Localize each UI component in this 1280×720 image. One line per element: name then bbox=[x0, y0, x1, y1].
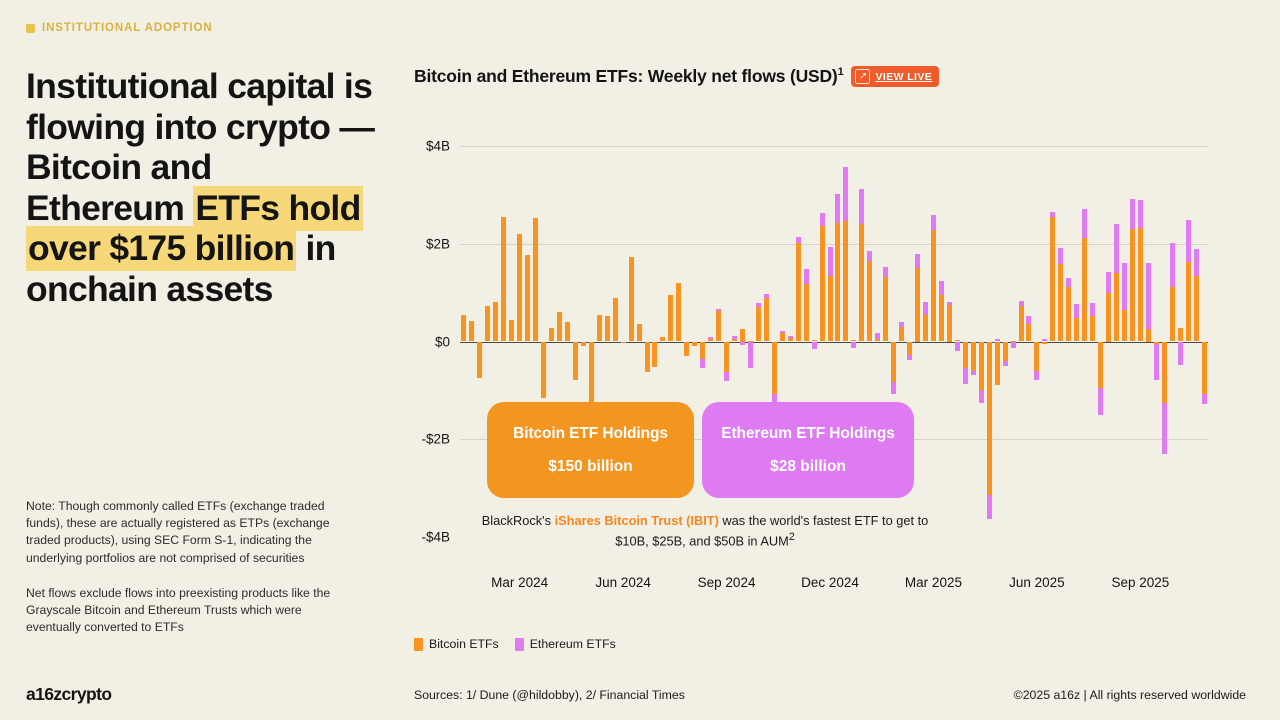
notes-block: Note: Though commonly called ETFs (excha… bbox=[26, 498, 336, 636]
x-axis-tick-label: Jun 2025 bbox=[1009, 575, 1065, 590]
bar-segment-bitcoin bbox=[676, 283, 681, 342]
chart-bar bbox=[1082, 146, 1087, 537]
bar-segment-ethereum bbox=[955, 342, 960, 352]
chart-bar bbox=[947, 146, 952, 537]
chart-bar bbox=[1106, 146, 1111, 537]
bar-segment-bitcoin bbox=[501, 217, 506, 342]
chart-bar bbox=[1114, 146, 1119, 537]
view-live-button[interactable]: ↗ VIEW LIVE bbox=[851, 66, 939, 87]
legend-item-bitcoin[interactable]: Bitcoin ETFs bbox=[414, 637, 499, 651]
bar-segment-ethereum bbox=[796, 237, 801, 243]
bar-segment-bitcoin bbox=[828, 276, 833, 342]
y-axis-tick-label: -$2B bbox=[394, 432, 450, 447]
bar-segment-bitcoin bbox=[947, 305, 952, 342]
bar-segment-ethereum bbox=[1194, 249, 1199, 276]
view-live-label: VIEW LIVE bbox=[875, 71, 932, 83]
bar-segment-bitcoin bbox=[1130, 229, 1135, 341]
bar-segment-bitcoin bbox=[1138, 228, 1143, 341]
bar-segment-bitcoin bbox=[788, 338, 793, 342]
bar-segment-ethereum bbox=[851, 342, 856, 349]
bar-segment-bitcoin bbox=[963, 342, 968, 369]
slide-root: INSTITUTIONAL ADOPTION Institutional cap… bbox=[0, 0, 1280, 720]
bar-segment-bitcoin bbox=[549, 328, 554, 342]
bar-segment-bitcoin bbox=[517, 234, 522, 342]
chart-bar bbox=[1050, 146, 1055, 537]
chart-bar bbox=[1202, 146, 1207, 537]
chart-bar bbox=[995, 146, 1000, 537]
left-column: INSTITUTIONAL ADOPTION Institutional cap… bbox=[26, 22, 386, 309]
chart-bar bbox=[971, 146, 976, 537]
chart-bar bbox=[1066, 146, 1071, 537]
x-axis-tick-label: Mar 2024 bbox=[491, 575, 548, 590]
chart-bar bbox=[1130, 146, 1135, 537]
bar-segment-bitcoin bbox=[493, 302, 498, 341]
chart-bar bbox=[1019, 146, 1024, 537]
chart-legend: Bitcoin ETFs Ethereum ETFs bbox=[414, 637, 616, 651]
bar-segment-ethereum bbox=[788, 336, 793, 338]
bar-segment-bitcoin bbox=[557, 312, 562, 341]
bar-segment-bitcoin bbox=[875, 339, 880, 341]
bar-segment-ethereum bbox=[1050, 212, 1055, 217]
footer-sources: Sources: 1/ Dune (@hildobby), 2/ Financi… bbox=[414, 688, 685, 702]
external-link-arrow-icon: ↗ bbox=[855, 69, 870, 84]
bar-segment-bitcoin bbox=[804, 284, 809, 342]
bar-segment-bitcoin bbox=[740, 329, 745, 341]
bar-segment-ethereum bbox=[708, 337, 713, 339]
bar-segment-ethereum bbox=[1138, 200, 1143, 228]
bar-segment-ethereum bbox=[1034, 371, 1039, 380]
chart-bar bbox=[1186, 146, 1191, 537]
bar-segment-bitcoin bbox=[692, 342, 697, 347]
chart-title-footnote: 1 bbox=[838, 66, 844, 78]
chart-bar bbox=[1026, 146, 1031, 537]
bar-segment-bitcoin bbox=[931, 230, 936, 341]
legend-swatch-icon bbox=[414, 638, 423, 651]
chart-bar bbox=[955, 146, 960, 537]
bar-segment-ethereum bbox=[1042, 339, 1047, 342]
annotation-part1: BlackRock's bbox=[482, 513, 555, 528]
bar-segment-bitcoin bbox=[629, 257, 634, 342]
bar-segment-bitcoin bbox=[565, 322, 570, 342]
bar-segment-ethereum bbox=[1019, 301, 1024, 306]
chart-bar bbox=[469, 146, 474, 537]
bar-segment-ethereum bbox=[939, 281, 944, 295]
bar-segment-bitcoin bbox=[716, 311, 721, 341]
bar-segment-ethereum bbox=[804, 269, 809, 284]
chart-bar bbox=[987, 146, 992, 537]
chart-bar bbox=[1154, 146, 1159, 537]
bar-segment-bitcoin bbox=[1114, 273, 1119, 341]
x-axis-tick-label: Mar 2025 bbox=[905, 575, 962, 590]
chart-annotation: BlackRock's iShares Bitcoin Trust (IBIT)… bbox=[480, 512, 930, 549]
chart-title-text: Bitcoin and Ethereum ETFs: Weekly net fl… bbox=[414, 66, 838, 86]
bar-segment-ethereum bbox=[780, 331, 785, 332]
bar-segment-ethereum bbox=[923, 302, 928, 314]
bar-segment-bitcoin bbox=[668, 295, 673, 341]
chart-bar bbox=[1194, 146, 1199, 537]
bar-segment-ethereum bbox=[1026, 316, 1031, 325]
bar-segment-ethereum bbox=[1162, 403, 1167, 454]
callout-card-ethereum: Ethereum ETF Holdings $28 billion bbox=[702, 402, 914, 498]
bar-segment-bitcoin bbox=[1058, 264, 1063, 341]
y-axis-tick-label: $2B bbox=[394, 236, 450, 251]
bar-segment-bitcoin bbox=[843, 221, 848, 342]
bar-segment-bitcoin bbox=[724, 342, 729, 372]
bar-segment-ethereum bbox=[883, 267, 888, 277]
chart-bar bbox=[461, 146, 466, 537]
bar-segment-ethereum bbox=[740, 342, 745, 346]
bar-segment-ethereum bbox=[1058, 248, 1063, 265]
bar-segment-bitcoin bbox=[883, 277, 888, 342]
bar-segment-ethereum bbox=[1130, 199, 1135, 229]
bar-segment-ethereum bbox=[915, 254, 920, 269]
bar-segment-bitcoin bbox=[613, 298, 618, 342]
eyebrow: INSTITUTIONAL ADOPTION bbox=[26, 22, 386, 34]
bar-segment-bitcoin bbox=[1106, 293, 1111, 342]
bar-segment-bitcoin bbox=[1146, 329, 1151, 341]
bar-segment-bitcoin bbox=[637, 324, 642, 341]
bar-segment-bitcoin bbox=[1050, 217, 1055, 342]
bar-segment-bitcoin bbox=[1019, 306, 1024, 342]
chart-bar bbox=[1170, 146, 1175, 537]
bar-segment-bitcoin bbox=[1178, 328, 1183, 342]
bar-segment-bitcoin bbox=[485, 306, 490, 341]
bar-segment-ethereum bbox=[947, 302, 952, 304]
x-axis-tick-label: Sep 2025 bbox=[1111, 575, 1169, 590]
bar-segment-bitcoin bbox=[477, 342, 482, 379]
callout-value: $28 billion bbox=[770, 458, 846, 476]
eyebrow-label: INSTITUTIONAL ADOPTION bbox=[42, 22, 213, 34]
bar-segment-bitcoin bbox=[987, 342, 992, 496]
y-axis-tick-label: $0 bbox=[394, 334, 450, 349]
bar-segment-ethereum bbox=[724, 372, 729, 381]
chart-bar bbox=[1074, 146, 1079, 537]
bar-segment-ethereum bbox=[732, 336, 737, 339]
bar-segment-bitcoin bbox=[899, 327, 904, 342]
bar-segment-bitcoin bbox=[660, 337, 665, 342]
bar-segment-bitcoin bbox=[1194, 276, 1199, 342]
chart-bar bbox=[1003, 146, 1008, 537]
chart-bar bbox=[1042, 146, 1047, 537]
bar-segment-ethereum bbox=[891, 382, 896, 395]
chart-bar bbox=[1090, 146, 1095, 537]
bar-segment-ethereum bbox=[1106, 272, 1111, 293]
page-title: Institutional capital is flowing into cr… bbox=[26, 66, 376, 309]
bar-segment-ethereum bbox=[971, 371, 976, 375]
callout-title: Bitcoin ETF Holdings bbox=[513, 425, 668, 443]
y-axis-tick-label: -$4B bbox=[394, 530, 450, 545]
y-axis-tick-label: $4B bbox=[394, 139, 450, 154]
legend-label: Ethereum ETFs bbox=[530, 637, 616, 651]
bar-segment-ethereum bbox=[764, 294, 769, 299]
bar-segment-bitcoin bbox=[1186, 262, 1191, 342]
bar-segment-bitcoin bbox=[1034, 342, 1039, 371]
bar-segment-ethereum bbox=[1074, 304, 1079, 318]
bar-segment-bitcoin bbox=[1074, 318, 1079, 341]
bar-segment-ethereum bbox=[700, 359, 705, 368]
x-axis-tick-label: Dec 2024 bbox=[801, 575, 859, 590]
x-axis-tick-label: Sep 2024 bbox=[698, 575, 756, 590]
bar-segment-bitcoin bbox=[1162, 342, 1167, 403]
bar-segment-ethereum bbox=[843, 167, 848, 221]
bar-segment-bitcoin bbox=[820, 226, 825, 342]
legend-item-ethereum[interactable]: Ethereum ETFs bbox=[515, 637, 616, 651]
bar-segment-bitcoin bbox=[1098, 342, 1103, 388]
annotation-footnote: 2 bbox=[789, 531, 795, 543]
bar-segment-ethereum bbox=[1098, 388, 1103, 415]
bar-segment-bitcoin bbox=[684, 342, 689, 357]
bar-segment-bitcoin bbox=[1003, 342, 1008, 362]
note-item: Note: Though commonly called ETFs (excha… bbox=[26, 498, 336, 567]
chart-bar bbox=[1122, 146, 1127, 537]
bar-segment-bitcoin bbox=[1090, 316, 1095, 341]
bar-segment-ethereum bbox=[995, 339, 1000, 341]
annotation-accent: iShares Bitcoin Trust (IBIT) bbox=[555, 513, 719, 528]
note-item: Net flows exclude flows into preexisting… bbox=[26, 585, 336, 637]
bar-segment-ethereum bbox=[1003, 361, 1008, 366]
bar-segment-bitcoin bbox=[461, 315, 466, 342]
bar-segment-bitcoin bbox=[907, 342, 912, 356]
chart-bar bbox=[1058, 146, 1063, 537]
bar-segment-bitcoin bbox=[509, 320, 514, 342]
bar-segment-bitcoin bbox=[469, 321, 474, 342]
bar-segment-bitcoin bbox=[923, 315, 928, 342]
bar-segment-bitcoin bbox=[573, 342, 578, 380]
bar-segment-ethereum bbox=[899, 322, 904, 327]
chart-bar bbox=[477, 146, 482, 537]
bar-segment-ethereum bbox=[812, 342, 817, 350]
x-axis-tick-label: Jun 2024 bbox=[595, 575, 651, 590]
bar-segment-bitcoin bbox=[859, 224, 864, 341]
chart-header: Bitcoin and Ethereum ETFs: Weekly net fl… bbox=[414, 66, 939, 87]
bar-segment-ethereum bbox=[867, 251, 872, 261]
bar-segment-bitcoin bbox=[772, 342, 777, 394]
bar-segment-bitcoin bbox=[995, 342, 1000, 386]
bar-segment-bitcoin bbox=[835, 223, 840, 341]
bar-segment-ethereum bbox=[1066, 278, 1071, 287]
bar-segment-ethereum bbox=[1170, 243, 1175, 287]
bar-segment-ethereum bbox=[907, 355, 912, 360]
bar-segment-bitcoin bbox=[1122, 310, 1127, 342]
bar-segment-bitcoin bbox=[708, 339, 713, 341]
bar-segment-ethereum bbox=[963, 368, 968, 384]
bar-segment-ethereum bbox=[1178, 342, 1183, 365]
bar-segment-ethereum bbox=[1122, 263, 1127, 309]
bar-segment-ethereum bbox=[716, 309, 721, 311]
bar-segment-bitcoin bbox=[525, 255, 530, 342]
callout-title: Ethereum ETF Holdings bbox=[721, 425, 895, 443]
bar-segment-bitcoin bbox=[939, 295, 944, 342]
chart-bar bbox=[1178, 146, 1183, 537]
bar-segment-bitcoin bbox=[971, 342, 976, 371]
chart-bar bbox=[1162, 146, 1167, 537]
bar-segment-ethereum bbox=[1082, 209, 1087, 238]
bar-segment-ethereum bbox=[1202, 394, 1207, 404]
bar-segment-ethereum bbox=[859, 189, 864, 224]
bar-segment-bitcoin bbox=[1082, 238, 1087, 342]
bar-segment-bitcoin bbox=[533, 218, 538, 341]
bar-segment-bitcoin bbox=[700, 342, 705, 360]
bar-segment-bitcoin bbox=[541, 342, 546, 398]
bar-segment-bitcoin bbox=[1170, 287, 1175, 342]
square-marker-icon bbox=[26, 24, 35, 33]
bar-segment-bitcoin bbox=[652, 342, 657, 367]
bar-segment-ethereum bbox=[828, 247, 833, 275]
bar-segment-bitcoin bbox=[764, 298, 769, 341]
bar-segment-ethereum bbox=[1011, 342, 1016, 349]
bar-segment-bitcoin bbox=[597, 315, 602, 342]
bar-segment-bitcoin bbox=[621, 342, 626, 343]
bar-segment-bitcoin bbox=[979, 342, 984, 391]
legend-label: Bitcoin ETFs bbox=[429, 637, 499, 651]
bar-segment-bitcoin bbox=[581, 342, 586, 347]
bar-segment-bitcoin bbox=[796, 243, 801, 342]
bar-segment-ethereum bbox=[931, 215, 936, 230]
bar-segment-ethereum bbox=[748, 342, 753, 369]
chart-bar bbox=[931, 146, 936, 537]
chart-bar bbox=[979, 146, 984, 537]
chart-bar bbox=[923, 146, 928, 537]
chart-bar bbox=[1146, 146, 1151, 537]
a16zcrypto-logo: a16zcrypto bbox=[26, 684, 111, 705]
footer-copyright: ©2025 a16z | All rights reserved worldwi… bbox=[1014, 688, 1246, 702]
callout-card-bitcoin: Bitcoin ETF Holdings $150 billion bbox=[487, 402, 694, 498]
chart-bar bbox=[939, 146, 944, 537]
bar-segment-bitcoin bbox=[756, 307, 761, 341]
bar-segment-ethereum bbox=[1090, 303, 1095, 316]
bar-segment-bitcoin bbox=[645, 342, 650, 372]
bar-segment-bitcoin bbox=[732, 339, 737, 341]
callout-value: $150 billion bbox=[548, 458, 632, 476]
bar-segment-bitcoin bbox=[891, 342, 896, 382]
bar-segment-ethereum bbox=[756, 303, 761, 307]
bar-segment-ethereum bbox=[1146, 263, 1151, 329]
bar-segment-ethereum bbox=[1186, 220, 1191, 262]
bar-segment-bitcoin bbox=[1066, 287, 1071, 342]
bar-segment-bitcoin bbox=[867, 261, 872, 342]
bar-segment-bitcoin bbox=[1202, 342, 1207, 395]
legend-swatch-icon bbox=[515, 638, 524, 651]
chart-bar bbox=[1098, 146, 1103, 537]
bar-segment-bitcoin bbox=[780, 333, 785, 342]
chart-bar bbox=[1034, 146, 1039, 537]
bar-segment-bitcoin bbox=[1042, 342, 1047, 344]
bar-segment-ethereum bbox=[820, 213, 825, 226]
chart-bar bbox=[1138, 146, 1143, 537]
bar-segment-ethereum bbox=[875, 333, 880, 339]
bar-segment-bitcoin bbox=[605, 316, 610, 341]
bar-segment-ethereum bbox=[979, 390, 984, 403]
bar-segment-ethereum bbox=[1114, 224, 1119, 273]
bar-segment-ethereum bbox=[835, 194, 840, 223]
bar-segment-ethereum bbox=[1154, 344, 1159, 379]
bar-segment-bitcoin bbox=[915, 268, 920, 341]
bar-segment-ethereum bbox=[987, 495, 992, 518]
chart-bar bbox=[915, 146, 920, 537]
chart-bar bbox=[1011, 146, 1016, 537]
chart-title: Bitcoin and Ethereum ETFs: Weekly net fl… bbox=[414, 66, 843, 87]
chart-bar bbox=[963, 146, 968, 537]
bar-segment-bitcoin bbox=[1026, 324, 1031, 341]
